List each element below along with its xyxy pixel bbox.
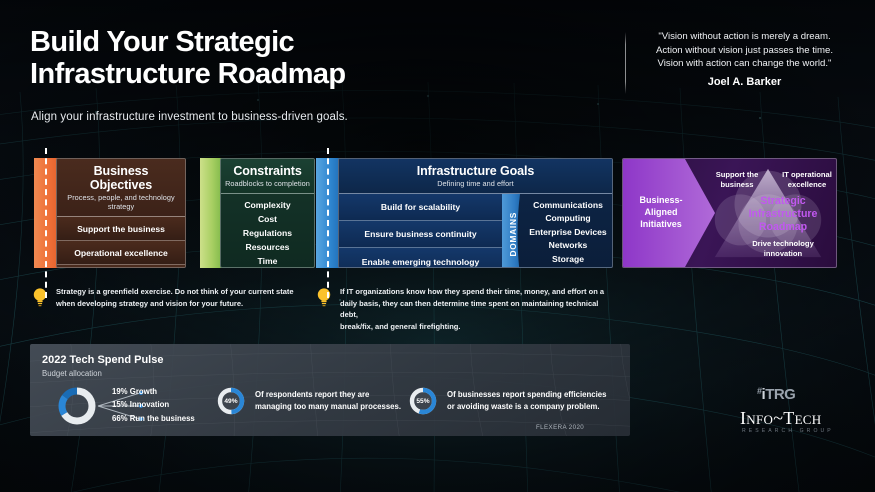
constraint-item[interactable]: Cost — [221, 213, 314, 227]
constraint-item[interactable]: Regulations — [221, 227, 314, 241]
note-it-spend: If IT organizations know how they spend … — [316, 286, 616, 333]
legend-item: 15% Innovation — [112, 398, 195, 411]
roadmap-core-label: Strategic Infrastructure Roadmap — [727, 195, 837, 235]
note2-line3: break/fix, and general firefighting. — [340, 321, 616, 333]
business-objective-row[interactable]: Technology innovation — [57, 265, 185, 268]
note1-line1: Strategy is a greenfield exercise. Do no… — [56, 286, 294, 298]
budget-allocation-legend: 19% Growth 15% Innovation 66% Run the bu… — [112, 385, 195, 425]
note2-line2: daily basis, they can then determine tim… — [340, 298, 616, 321]
card-strategic-roadmap[interactable]: Business- Aligned Initiatives Support th… — [622, 158, 837, 268]
pulse-source: FLEXERA 2020 — [536, 424, 584, 431]
card-body-business-objectives: Business Objectives Process, people, and… — [56, 158, 186, 268]
domain-item[interactable]: Computing — [524, 212, 612, 225]
card-business-objectives[interactable]: Business Objectives Process, people, and… — [34, 158, 186, 268]
quote-author: Joel A. Barker — [639, 76, 850, 88]
infrastructure-goals-body: Build for scalability Ensure business co… — [339, 194, 612, 268]
domains-label: DOMAINS — [508, 212, 518, 256]
card-title-constraints: Constraints — [225, 164, 310, 178]
lightbulb-icon — [316, 287, 332, 307]
note-it-spend-text: If IT organizations know how they spend … — [340, 286, 616, 333]
card-header-constraints: Constraints Roadblocks to completion — [221, 159, 314, 194]
card-subtitle-constraints: Roadblocks to completion — [225, 179, 310, 188]
domains-label-wrap: DOMAINS — [502, 194, 524, 268]
connector-dashed-orange — [45, 148, 47, 298]
roadmap-core-line1: Strategic — [727, 195, 837, 208]
business-objective-row[interactable]: Operational excellence — [57, 241, 185, 265]
stat1-line1: Of respondents report they are — [255, 389, 401, 401]
stat-spending-efficiency: 55% Of businesses report spending effici… — [408, 386, 606, 416]
logo-tagline: RESEARCH GROUP — [742, 428, 834, 434]
stat-ring-55: 55% — [408, 386, 438, 416]
card-subtitle-infrastructure-goals: Defining time and effort — [343, 179, 608, 188]
card-subtitle-business-objectives: Process, people, and technology strategy — [61, 193, 181, 211]
constraint-item[interactable]: Resources — [221, 241, 314, 255]
logo-itrg-rest: TRG — [765, 386, 795, 403]
domain-item[interactable]: Networks — [524, 239, 612, 252]
card-header-business-objectives: Business Objectives Process, people, and… — [57, 159, 185, 217]
page-subtitle: Align your infrastructure investment to … — [31, 111, 348, 123]
logo-it-t: T — [783, 408, 794, 428]
stat-manual-processes: 49% Of respondents report they are manag… — [216, 386, 401, 416]
card-infrastructure-goals[interactable]: Infrastructure Goals Defining time and e… — [316, 158, 613, 268]
page-title-line1: Build Your Strategic — [30, 26, 500, 58]
logo-it-nfo: NFO — [746, 412, 773, 427]
roadmap-core-line2: Infrastructure — [727, 208, 837, 221]
page-title: Build Your Strategic Infrastructure Road… — [30, 26, 500, 90]
domains-band: DOMAINS — [502, 194, 524, 268]
logo-it-tilde: ~ — [773, 408, 783, 428]
card-body-infrastructure-goals: Infrastructure Goals Defining time and e… — [338, 158, 613, 268]
pulse-title: 2022 Tech Spend Pulse — [42, 354, 163, 366]
infrastructure-goal-row[interactable]: Enable emerging technology — [339, 248, 502, 268]
card-title-infrastructure-goals: Infrastructure Goals — [343, 164, 608, 178]
stat-ring-49: 49% — [216, 386, 246, 416]
card-header-infrastructure-goals: Infrastructure Goals Defining time and e… — [339, 159, 612, 194]
pulse-subtitle: Budget allocation — [42, 369, 102, 378]
stat-text-spending-efficiency: Of businesses report spending efficienci… — [447, 389, 606, 412]
stat2-line2: or avoiding waste is a company problem. — [447, 401, 606, 413]
infrastructure-goal-row[interactable]: Build for scalability — [339, 194, 502, 221]
card-body-constraints: Constraints Roadblocks to completion Com… — [220, 158, 315, 268]
stat2-line1: Of businesses report spending efficienci… — [447, 389, 606, 401]
stat-text-manual-processes: Of respondents report they are managing … — [255, 389, 401, 412]
quote-line-2: Action without vision just passes the ti… — [639, 44, 850, 58]
quote-line-3: Vision with action can change the world.… — [639, 57, 850, 71]
logo-info-tech: INFO~TECH — [740, 408, 821, 429]
logo-itrg: #iTRG — [757, 386, 795, 403]
roadmap-core-line3: Roadmap — [727, 221, 837, 234]
note-greenfield-text: Strategy is a greenfield exercise. Do no… — [56, 286, 294, 309]
domain-item[interactable]: Storage — [524, 253, 612, 266]
constraint-item[interactable]: Complexity — [221, 199, 314, 213]
roadmap-it-excellence-label: IT operational excellence — [771, 170, 837, 190]
roadmap-drive-innovation-label: Drive technology innovation — [731, 239, 835, 259]
stat-value-55: 55% — [408, 386, 438, 416]
domains-list: Communications Computing Enterprise Devi… — [524, 194, 612, 268]
card-constraints[interactable]: Constraints Roadblocks to completion Com… — [200, 158, 315, 268]
quote-block: "Vision without action is merely a dream… — [625, 30, 850, 88]
note-greenfield: Strategy is a greenfield exercise. Do no… — [32, 286, 314, 309]
note1-line2: when developing strategy and vision for … — [56, 298, 294, 310]
page-title-line2: Infrastructure Roadmap — [30, 58, 500, 90]
domain-item[interactable]: Communications — [524, 199, 612, 212]
logo-it-ech: ECH — [795, 412, 822, 427]
quote-line-1: "Vision without action is merely a dream… — [639, 30, 850, 44]
legend-item: 66% Run the business — [112, 412, 195, 425]
domain-item[interactable]: Enterprise Devices — [524, 226, 612, 239]
card-title-business-objectives: Business Objectives — [61, 164, 181, 192]
infrastructure-goals-list: Build for scalability Ensure business co… — [339, 194, 502, 268]
budget-allocation-donut — [56, 385, 98, 427]
roadmap-support-label: Support the business — [701, 170, 773, 190]
constraint-item[interactable]: Time — [221, 255, 314, 268]
roadmap-chevron-line1: Business- — [639, 195, 682, 207]
quote-divider — [625, 32, 626, 94]
infrastructure-goal-row[interactable]: Ensure business continuity — [339, 221, 502, 248]
roadmap-chevron-line2: Aligned — [639, 207, 682, 219]
card-body-strategic-roadmap: Business- Aligned Initiatives Support th… — [622, 158, 837, 268]
stat1-line2: managing too many manual processes. — [255, 401, 401, 413]
constraints-list: Complexity Cost Regulations Resources Ti… — [221, 194, 314, 268]
stat-value-49: 49% — [216, 386, 246, 416]
roadmap-chevron-label: Business- Aligned Initiatives — [627, 159, 695, 267]
roadmap-chevron-line3: Initiatives — [639, 219, 682, 231]
note2-line1: If IT organizations know how they spend … — [340, 286, 616, 298]
legend-item: 19% Growth — [112, 385, 195, 398]
business-objective-row[interactable]: Support the business — [57, 217, 185, 241]
connector-dashed-blue — [327, 148, 329, 298]
